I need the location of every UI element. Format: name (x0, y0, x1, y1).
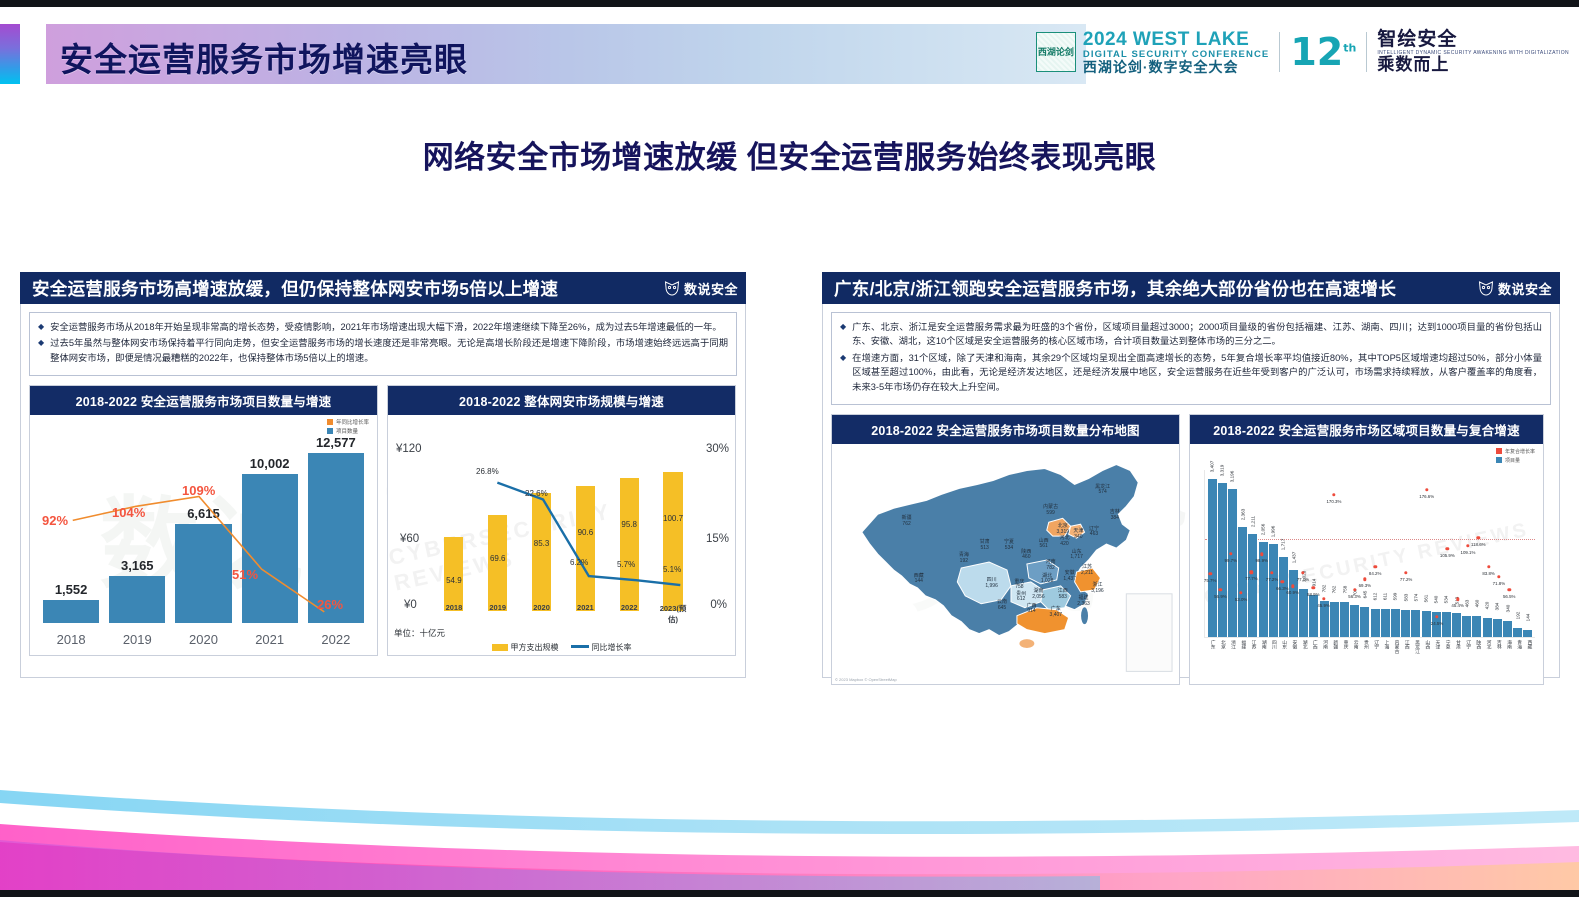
map-attribution: © 2023 Mapbox © OpenStreetMap (835, 677, 897, 682)
x-tick: 辽宁 (1462, 640, 1471, 682)
bar-column: 561 (1422, 470, 1431, 637)
bar-column: 1,996 (1269, 470, 1278, 637)
left-panel-title: 安全运营服务市场高增速放缓，但仍保持整体网安市场5倍以上增速 (32, 276, 558, 301)
bars-container: 1,552 3,165 6,615 10,002 12,577 (38, 435, 369, 623)
x-tick: 吉林 (1493, 640, 1502, 682)
bar (1462, 616, 1471, 637)
bar-column: 54.9 (437, 445, 471, 611)
theme-logo: 智绘安全 INTELLIGENT DYNAMIC SECURITY AWAKEN… (1377, 30, 1569, 74)
bar-value-label: 3,196 (1230, 471, 1235, 483)
edition-value: 12 (1290, 30, 1343, 74)
bar (1432, 612, 1441, 637)
bar-value-label: 2,056 (1261, 523, 1266, 535)
bullet-diamond-icon: ◆ (840, 351, 846, 394)
x-tick: 西藏 (1523, 640, 1532, 682)
bar-value-label: 69.6 (490, 554, 506, 563)
bar (1442, 612, 1451, 637)
chart-legend: 甲方支出规模 同比增长率 (388, 642, 735, 653)
x-tick: 辽宁 (1370, 640, 1379, 682)
bar (576, 486, 595, 611)
bar-value-label: 10,002 (250, 456, 290, 471)
x-tick: 2018 (43, 632, 99, 647)
bar-column: 12,577 (308, 435, 364, 623)
right-panel-header: 广东/北京/浙江领跑安全运营服务市场，其余绝大部份省份也在高速增长 数说安全 (822, 272, 1560, 304)
legend-item: 甲方支出规模 (492, 642, 559, 653)
conference-logos: 西湖论剑 2024 WEST LAKE DIGITAL SECURITY CON… (1036, 23, 1569, 81)
bar-value-label: 513 (1454, 597, 1459, 605)
x-tick: 2020 (524, 603, 558, 625)
bar-value-label: 612 (1373, 592, 1378, 600)
bullet-text: 广东、北京、浙江是安全运营服务需求最为旺盛的3个省份，区域项目量超过3000；2… (852, 320, 1542, 349)
chart-area: CYBERSECURITY REVIEWS 年复合增长率 项目量 3,4073,… (1190, 444, 1543, 684)
y-axis-tick: ¥60 (400, 533, 419, 545)
bar-column: 85.3 (524, 445, 558, 611)
bar-value-label: 782 (1322, 584, 1327, 592)
bar-value-label: 561 (1424, 595, 1429, 603)
bar-value-label: 384 (1495, 603, 1500, 611)
x-tick: 内蒙古 (1391, 640, 1400, 682)
legend-item: 项目量 (1496, 457, 1535, 466)
bar-column: 914 (1309, 470, 1318, 637)
bar-value-label: 1,996 (1271, 526, 1276, 538)
bar-value-label: 762 (1332, 585, 1337, 593)
right-bullets: ◆ 广东、北京、浙江是安全运营服务需求最为旺盛的3个省份，区域项目量超过3000… (831, 312, 1551, 405)
growth-label: 26% (317, 597, 343, 612)
right-charts-row: 2018-2022 安全运营服务市场项目数量分布地图 数说 (831, 414, 1551, 685)
x-tick: 四川 (1268, 640, 1277, 682)
bar-value-label: 192 (1515, 612, 1520, 620)
bullet-text: 过去5年虽然与整体网安市场保持着平行同向走势，但安全运营服务市场的增长速度还是非… (50, 336, 728, 365)
bar (444, 537, 463, 612)
bar-value-label: 85.3 (534, 539, 550, 548)
bar-column: 1,437 (1289, 470, 1298, 637)
top-black-strip (0, 0, 1579, 7)
bottom-black-strip (0, 890, 1579, 897)
bullet-text: 在增速方面，31个区域，除了天津和海南，其余29个区域均呈现出全面高速增长的态势… (852, 351, 1542, 394)
bar-value-label: 583 (1403, 594, 1408, 602)
bar-value-label: 340 (1505, 605, 1510, 613)
x-tick: 2020 (175, 632, 231, 647)
chart-projects-growth: 2018-2022 安全运营服务市场项目数量与增速 数说 年同比增长率 项目数量… (29, 385, 378, 656)
bar-value-label: 611 (1383, 593, 1388, 600)
bar (43, 600, 99, 623)
x-tick: 浙江 (1227, 640, 1236, 682)
bar (1401, 610, 1410, 637)
bar-value-label: 540 (1434, 596, 1439, 604)
owl-icon (664, 281, 680, 296)
bar (1289, 570, 1298, 637)
x-tick: 2021 (568, 603, 602, 625)
chart-china-map: 2018-2022 安全运营服务市场项目数量分布地图 数说 (831, 414, 1180, 685)
x-tick: 湖南 (1258, 640, 1267, 682)
owl-icon (1478, 281, 1494, 296)
bar-value-label: 90.6 (578, 528, 594, 537)
chart-title: 2018-2022 安全运营服务市场项目数量与增速 (30, 386, 377, 415)
bar (1452, 613, 1461, 637)
bar-value-label: 1,552 (55, 582, 88, 597)
bar-column: 340 (1503, 470, 1512, 637)
bar-column: 420 (1483, 470, 1492, 637)
bar (1259, 542, 1268, 637)
bar-column: 513 (1452, 470, 1461, 637)
chart-title: 2018-2022 整体网安市场规模与增速 (388, 386, 735, 415)
x-tick: 2018 (437, 603, 471, 625)
header-accent-bar (0, 24, 20, 84)
bar (1269, 544, 1278, 637)
bar-column: 612 (1371, 470, 1380, 637)
bar-column: 583 (1401, 470, 1410, 637)
right-panel: 广东/北京/浙江领跑安全运营服务市场，其余绝大部份省份也在高速增长 数说安全 数… (822, 272, 1560, 678)
bar-column: 460 (1472, 470, 1481, 637)
bar (1391, 609, 1400, 637)
legend-item: 年同比增长率 (327, 419, 369, 428)
x-axis-labels: 2018 2019 2020 2021 2022 2023(预估) (432, 603, 695, 625)
bar-column: 611 (1381, 470, 1390, 637)
y2-axis-tick: 15% (706, 533, 729, 545)
slide-subtitle: 网络安全市场增速放缓 但安全运营服务始终表现亮眼 (0, 132, 1579, 177)
bar-column: 1,717 (1279, 470, 1288, 637)
right-panel-body: 数说安全 ◆ 广东、北京、浙江是安全运营服务需求最为旺盛的3个省份，区域项目量超… (822, 304, 1560, 678)
x-tick: 海南 (1503, 640, 1512, 682)
bar-column: 599 (1391, 470, 1400, 637)
bar-value-label: 1,437 (1291, 552, 1296, 564)
list-item: ◆ 广东、北京、浙江是安全运营服务需求最为旺盛的3个省份，区域项目量超过3000… (840, 320, 1542, 349)
bar-column: 3,196 (1228, 470, 1237, 637)
bar-value-label: 574 (1413, 594, 1418, 602)
bar (1513, 628, 1522, 637)
growth-label: 51% (232, 567, 258, 582)
left-bullets: ◆ 安全运营服务市场从2018年开始呈现非常高的增长态势，受疫情影响，2021年… (29, 312, 737, 376)
bar (1422, 611, 1431, 637)
bar-value-label: 534 (1444, 596, 1449, 604)
bar (1320, 601, 1329, 637)
x-tick: 宁夏 (1442, 640, 1451, 682)
bar (1411, 610, 1420, 637)
seal-text: 西湖论剑 (1038, 48, 1074, 57)
bar (1218, 483, 1227, 637)
x-tick: 江西 (1401, 640, 1410, 682)
list-item: ◆ 在增速方面，31个区域，除了天津和海南，其余29个区域均呈现出全面高速增长的… (840, 351, 1542, 394)
bar-column: 540 (1432, 470, 1441, 637)
x-tick: 河南 (1319, 640, 1328, 682)
bar (1238, 527, 1247, 637)
west-lake-logo: 西湖论剑 2024 WEST LAKE DIGITAL SECURITY CON… (1036, 30, 1269, 75)
bar-column: 10,002 (242, 435, 298, 623)
x-tick: 重庆 (1339, 640, 1348, 682)
edition-suffix: th (1343, 41, 1356, 54)
bar (663, 472, 682, 611)
growth-label: 109% (182, 483, 215, 498)
chart-legend: 年复合增长率 项目量 (1496, 448, 1535, 465)
legend-item: 同比增长率 (571, 642, 632, 653)
chart-region-cagr: 2018-2022 安全运营服务市场区域项目数量与复合增速 CYBERSECUR… (1189, 414, 1544, 685)
bar-column: 1,028 (1299, 470, 1308, 637)
theme-line3: 乘数而上 (1377, 56, 1569, 74)
x-tick: 山西 (1421, 640, 1430, 682)
bar-column: 700 (1350, 470, 1359, 637)
bar (1350, 605, 1359, 637)
bar (1228, 489, 1237, 637)
yoy-label: 5.1% (663, 565, 681, 574)
yoy-label: 22.6% (525, 489, 548, 498)
y-axis-tick: ¥120 (396, 443, 422, 455)
bar-column: 3,319 (1218, 470, 1227, 637)
bar-column: 95.8 (612, 445, 646, 611)
x-tick: 福建 (1237, 640, 1246, 682)
bar-value-label: 100.7 (663, 514, 683, 523)
yoy-label: 6.2% (570, 558, 588, 567)
x-axis-labels: 2018 2019 2020 2021 2022 (38, 632, 369, 647)
bar-column: 2,056 (1259, 470, 1268, 637)
x-tick: 2022 (612, 603, 646, 625)
x-tick: 云南 (1350, 640, 1359, 682)
left-charts-row: 2018-2022 安全运营服务市场项目数量与增速 数说 年同比增长率 项目数量… (29, 385, 737, 656)
bar (1472, 616, 1481, 637)
bar-column: 762 (1330, 470, 1339, 637)
bar (175, 524, 231, 623)
y2-axis-tick: 0% (710, 599, 727, 611)
bar (1360, 607, 1369, 637)
china-map-svg (832, 444, 1179, 684)
map-area: 数说 (832, 444, 1179, 684)
bullet-diamond-icon: ◆ (840, 320, 846, 349)
bar (1299, 589, 1308, 637)
x-tick: 新疆 (1329, 640, 1338, 682)
logo-divider-2 (1366, 32, 1367, 72)
bar (1523, 630, 1532, 637)
x-tick: 广西 (1309, 640, 1318, 682)
bar-value-label: 95.8 (621, 520, 637, 529)
x-tick: 黑龙江 (1411, 640, 1420, 682)
bar-value-label: 1,028 (1301, 571, 1306, 583)
bar (1483, 618, 1492, 637)
unit-note: 单位：十亿元 (394, 627, 445, 639)
bar-value-label: 2,363 (1240, 509, 1245, 521)
bar-value-label: 6,615 (187, 506, 220, 521)
chart-area: 数说 年同比增长率 项目数量 1,552 3,165 6,615 10,002 … (30, 415, 377, 655)
bar (1493, 619, 1502, 637)
bar-value-label: 3,165 (121, 558, 154, 573)
bar-column: 6,615 (175, 435, 231, 623)
legend-item: 年复合增长率 (1496, 448, 1535, 457)
bar-value-label: 1,717 (1281, 539, 1286, 551)
x-tick: 贵州 (1360, 640, 1369, 682)
bar (1381, 609, 1390, 637)
bar-value-label: 914 (1311, 578, 1316, 586)
bar-value-label: 463 (1464, 599, 1469, 607)
y2-axis-tick: 30% (706, 443, 729, 455)
x-tick: 2019 (481, 603, 515, 625)
theme-line1: 智绘安全 (1377, 30, 1569, 50)
x-tick: 陕西 (1472, 640, 1481, 682)
bar-column: 2,211 (1248, 470, 1257, 637)
x-tick: 湖北 (1299, 640, 1308, 682)
x-tick: 河北 (1483, 640, 1492, 682)
bar-value-label: 3,407 (1210, 461, 1215, 473)
bar-value-label: 144 (1525, 614, 1530, 622)
x-tick: 安徽 (1288, 640, 1297, 682)
bullet-diamond-icon: ◆ (38, 336, 44, 365)
growth-label: 104% (112, 505, 145, 520)
chart-overall-market: 2018-2022 整体网安市场规模与增速 CYBERSECURITY REVI… (387, 385, 736, 656)
bar (109, 576, 165, 623)
x-tick: 甘肃 (1452, 640, 1461, 682)
list-item: ◆ 安全运营服务市场从2018年开始呈现非常高的增长态势，受疫情影响，2021年… (38, 320, 728, 334)
bottom-decoration (0, 690, 1579, 890)
bar-value-label: 12,577 (316, 435, 356, 450)
bar-column: 463 (1462, 470, 1471, 637)
bullet-text: 安全运营服务市场从2018年开始呈现非常高的增长态势，受疫情影响，2021年市场… (50, 320, 728, 334)
brand-logo-left: 数说安全 (664, 279, 738, 298)
edition-number: 12th (1290, 33, 1356, 71)
bar-column: 534 (1442, 470, 1451, 637)
yoy-label: 26.8% (476, 467, 499, 476)
growth-label: 92% (42, 513, 68, 528)
bar (1371, 609, 1380, 637)
bar-column: 645 (1360, 470, 1369, 637)
bar (532, 493, 551, 611)
bar-value-label: 599 (1393, 593, 1398, 601)
bar-column: 384 (1493, 470, 1502, 637)
chart-area: CYBERSECURITY REVIEWS ¥120 ¥60 ¥0 30% 15… (388, 415, 735, 655)
bar-column: 2,363 (1238, 470, 1247, 637)
brand-name-right: 数说安全 (1498, 279, 1552, 298)
bullet-diamond-icon: ◆ (38, 320, 44, 334)
x-tick: 2023(预估) (656, 603, 690, 625)
bar (1330, 602, 1339, 637)
bar-column: 3,407 (1208, 470, 1217, 637)
x-tick: 江苏 (1247, 640, 1256, 682)
x-tick: 青海 (1513, 640, 1522, 682)
list-item: ◆ 过去5年虽然与整体网安市场保持着平行同向走势，但安全运营服务市场的增长速度还… (38, 336, 728, 365)
seal-icon: 西湖论剑 (1036, 32, 1076, 72)
bars-container: 54.9 69.6 85.3 90.6 95.8 100.7 (432, 445, 695, 611)
page-title: 安全运营服务市场增速亮眼 (60, 33, 468, 81)
bar-value-label: 420 (1485, 601, 1490, 609)
right-panel-title: 广东/北京/浙江领跑安全运营服务市场，其余绝大部份省份也在高速增长 (834, 276, 1396, 301)
bar-column: 782 (1320, 470, 1329, 637)
x-tick: 天津 (1431, 640, 1440, 682)
bar (1279, 557, 1288, 637)
x-tick: 广东 (1207, 640, 1216, 682)
bar (1340, 602, 1349, 637)
bar (1248, 534, 1257, 637)
bar-value-label: 758 (1342, 586, 1347, 594)
bar-column: 574 (1411, 470, 1420, 637)
bar-value-label: 460 (1474, 599, 1479, 607)
bar (1208, 479, 1217, 637)
bar-column: 100.7 (656, 445, 690, 611)
yoy-label: 5.7% (617, 560, 635, 569)
logo-divider-1 (1279, 32, 1280, 72)
bar-column: 3,165 (109, 435, 165, 623)
chart-title: 2018-2022 安全运营服务市场区域项目数量与复合增速 (1190, 415, 1543, 444)
bar-value-label: 700 (1352, 588, 1357, 596)
x-tick: 2021 (242, 632, 298, 647)
left-panel-body: 数说安全 ◆ 安全运营服务市场从2018年开始呈现非常高的增长态势，受疫情影响，… (20, 304, 746, 678)
west-lake-line1: 2024 WEST LAKE (1083, 30, 1269, 50)
bar-column: 1,552 (43, 435, 99, 623)
bar (1503, 621, 1512, 637)
brand-logo-right: 数说安全 (1478, 279, 1552, 298)
chart-title: 2018-2022 安全运营服务市场项目数量分布地图 (832, 415, 1179, 444)
bar-value-label: 645 (1362, 591, 1367, 599)
bar-value-label: 3,319 (1220, 465, 1225, 477)
y-axis-tick: ¥0 (404, 599, 417, 611)
bars-container: 3,4073,3193,1962,3632,2112,0561,9961,717… (1205, 470, 1535, 637)
bar (620, 478, 639, 611)
bar-column: 144 (1523, 470, 1532, 637)
x-tick: 上海 (1380, 640, 1389, 682)
brand-name-left: 数说安全 (684, 279, 738, 298)
left-panel-header: 安全运营服务市场高增速放缓，但仍保持整体网安市场5倍以上增速 数说安全 (20, 272, 746, 304)
bar-column: 192 (1513, 470, 1522, 637)
chart-legend: 年同比增长率 项目数量 (327, 419, 369, 437)
x-tick: 山东 (1278, 640, 1287, 682)
x-tick: 2019 (109, 632, 165, 647)
left-panel: 安全运营服务市场高增速放缓，但仍保持整体网安市场5倍以上增速 数说安全 数说安全… (20, 272, 746, 678)
bar-value-label: 2,211 (1250, 516, 1255, 527)
x-tick: 2022 (308, 632, 364, 647)
x-axis-labels: 广东北京浙江福建江苏湖南四川山东安徽湖北广西河南新疆重庆云南贵州辽宁上海内蒙古江… (1204, 640, 1535, 682)
decorative-waves (0, 690, 1579, 890)
west-lake-line3: 西湖论剑·数字安全大会 (1083, 60, 1269, 75)
bar-column: 758 (1340, 470, 1349, 637)
bar-column: 90.6 (568, 445, 602, 611)
bar (1309, 595, 1318, 637)
x-tick: 北京 (1217, 640, 1226, 682)
plot-area: 3,4073,3193,1962,3632,2112,0561,9961,717… (1204, 470, 1535, 638)
bar-value-label: 54.9 (446, 576, 462, 585)
bar (242, 474, 298, 623)
